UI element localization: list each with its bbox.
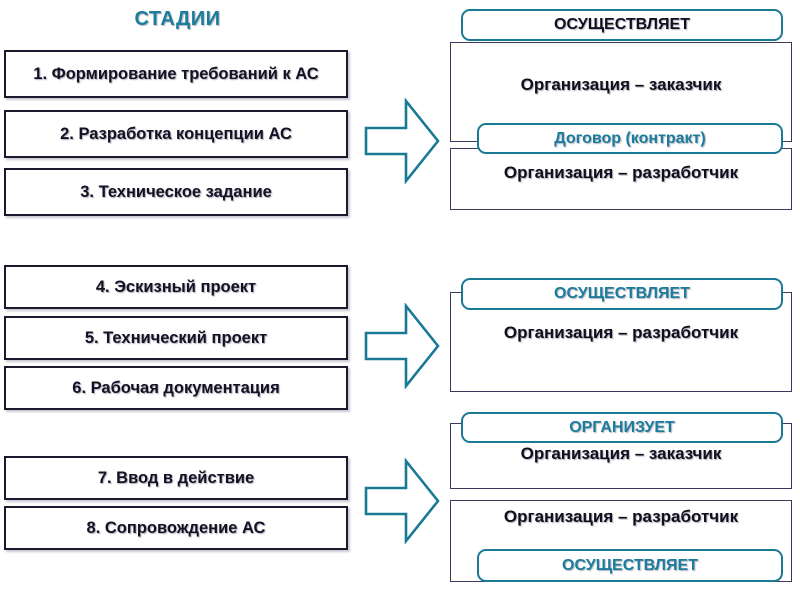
stage-label: 7. Ввод в действие — [98, 469, 254, 488]
group3-actor1-label: Организация – заказчик — [521, 444, 722, 464]
stage-label: 4. Эскизный проект — [96, 278, 256, 297]
group3-action-top-pill[interactable]: ОРГАНИЗУЕТ — [461, 412, 783, 443]
group1-actor2-label: Организация – разработчик — [504, 163, 738, 183]
stage-label: 1. Формирование требований к АС — [33, 65, 318, 84]
group1-actor2-box[interactable]: Организация – разработчик — [450, 148, 792, 210]
right-arrow-icon-3 — [364, 458, 440, 544]
stage-label: 8. Сопровождение АС — [87, 519, 266, 538]
stage-label: 5. Технический проект — [85, 329, 267, 348]
stage-box-5[interactable]: 5. Технический проект — [4, 316, 348, 360]
diagram-canvas: СТАДИИ 1. Формирование требований к АС 2… — [0, 0, 800, 600]
group2-actor1-label: Организация – разработчик — [504, 323, 738, 343]
stage-box-1[interactable]: 1. Формирование требований к АС — [4, 50, 348, 98]
right-arrow-icon-2 — [364, 303, 440, 389]
group1-action-top-label: ОСУЩЕСТВЛЯЕТ — [554, 16, 690, 34]
page-title: СТАДИИ — [0, 8, 355, 31]
stage-label: 6. Рабочая документация — [72, 379, 279, 398]
stage-box-4[interactable]: 4. Эскизный проект — [4, 265, 348, 309]
stage-label: 2. Разработка концепции АС — [60, 125, 292, 144]
right-arrow-icon-1 — [364, 98, 440, 184]
group1-contract-pill[interactable]: Договор (контракт) — [477, 123, 783, 154]
group1-contract-label: Договор (контракт) — [554, 130, 705, 148]
stage-box-2[interactable]: 2. Разработка концепции АС — [4, 110, 348, 158]
stage-box-6[interactable]: 6. Рабочая документация — [4, 366, 348, 410]
stage-box-7[interactable]: 7. Ввод в действие — [4, 456, 348, 500]
stage-box-3[interactable]: 3. Техническое задание — [4, 168, 348, 216]
group1-actor1-label: Организация – заказчик — [521, 75, 722, 95]
stage-label: 3. Техническое задание — [80, 183, 272, 202]
group2-action-top-pill[interactable]: ОСУЩЕСТВЛЯЕТ — [461, 278, 783, 310]
group3-actor2-label: Организация – разработчик — [504, 507, 738, 527]
group3-action-bottom-pill[interactable]: ОСУЩЕСТВЛЯЕТ — [477, 549, 783, 582]
group1-action-top-pill[interactable]: ОСУЩЕСТВЛЯЕТ — [461, 9, 783, 41]
group3-action-top-label: ОРГАНИЗУЕТ — [569, 419, 675, 437]
stage-box-8[interactable]: 8. Сопровождение АС — [4, 506, 348, 550]
group2-action-top-label: ОСУЩЕСТВЛЯЕТ — [554, 285, 690, 303]
group3-action-bottom-label: ОСУЩЕСТВЛЯЕТ — [562, 557, 698, 575]
